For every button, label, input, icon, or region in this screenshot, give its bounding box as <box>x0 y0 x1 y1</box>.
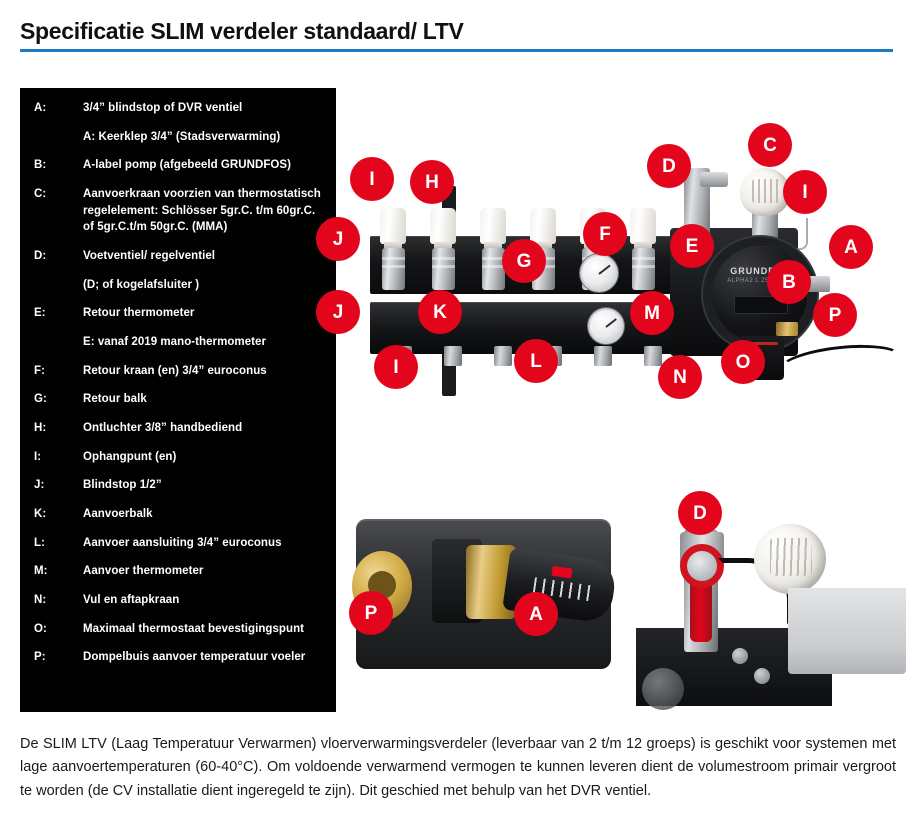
legend-key: H: <box>34 420 83 437</box>
return-thermometer-gauge <box>580 254 618 292</box>
legend-key: J: <box>34 477 83 494</box>
valve-cap <box>630 208 656 244</box>
legend-row: L:Aanvoer aansluiting 3/4” euroconus <box>34 535 326 552</box>
callout-badge-m: M <box>630 291 674 335</box>
callout-badge-l: L <box>514 339 558 383</box>
title-divider <box>20 49 893 52</box>
legend-panel: A:3/4” blindstop of DVR ventielA:A: Keer… <box>20 88 336 712</box>
callout-badge-d: D <box>678 491 722 535</box>
legend-label: Retour kraan (en) 3/4” euroconus <box>83 363 326 380</box>
legend-row: E:E: vanaf 2019 mano-thermometer <box>34 334 326 351</box>
thermostatic-head-icon <box>754 524 826 594</box>
callout-badge-i: I <box>350 157 394 201</box>
legend-label: Retour balk <box>83 391 326 408</box>
inset-photo-foot-valve <box>636 500 906 710</box>
legend-label: Retour thermometer <box>83 305 326 322</box>
legend-key: O: <box>34 621 83 638</box>
legend-label: A: Keerklep 3/4” (Stadsverwarming) <box>83 129 326 146</box>
callout-badge-a: A <box>514 592 558 636</box>
legend-row: B:A-label pomp (afgebeeld GRUNDFOS) <box>34 157 326 174</box>
legend-label: Voetventiel/ regelventiel <box>83 248 326 265</box>
supply-connector <box>444 346 462 366</box>
legend-key: M: <box>34 563 83 580</box>
legend-key: K: <box>34 506 83 523</box>
legend-row: N:Vul en aftapkraan <box>34 592 326 609</box>
supply-connector <box>494 346 512 366</box>
callout-badge-h: H <box>410 160 454 204</box>
callout-badge-c: C <box>748 123 792 167</box>
bolt-icon <box>754 668 770 684</box>
legend-row: C:Aanvoerkraan voorzien van thermostatis… <box>34 186 326 236</box>
page-title: Specificatie SLIM verdeler standaard/ LT… <box>20 18 895 44</box>
callout-badge-j: J <box>316 290 360 334</box>
legend-row: F:Retour kraan (en) 3/4” euroconus <box>34 363 326 380</box>
legend-key: L: <box>34 535 83 552</box>
legend-label: Dompelbuis aanvoer temperatuur voeler <box>83 649 326 666</box>
callout-badge-a: A <box>829 225 873 269</box>
valve-cap <box>480 208 506 244</box>
legend-key: P: <box>34 649 83 666</box>
legend-label: Maximaal thermostaat bevestigingspunt <box>83 621 326 638</box>
callout-badge-b: B <box>767 260 811 304</box>
legend-row: E:Retour thermometer <box>34 305 326 322</box>
legend-label: 3/4” blindstop of DVR ventiel <box>83 100 326 117</box>
callout-badge-k: K <box>418 290 462 334</box>
legend-label: Aanvoerkraan voorzien van thermostatisch… <box>83 186 326 236</box>
legend-row: G:Retour balk <box>34 391 326 408</box>
legend-label: Aanvoer thermometer <box>83 563 326 580</box>
legend-row: I:Ophangpunt (en) <box>34 449 326 466</box>
callout-badge-n: N <box>658 355 702 399</box>
legend-key: I: <box>34 449 83 466</box>
legend-row: A:A: Keerklep 3/4” (Stadsverwarming) <box>34 129 326 146</box>
callout-badge-i: I <box>783 170 827 214</box>
description-paragraph: De SLIM LTV (Laag Temperatuur Verwarmen)… <box>20 733 896 803</box>
red-index-marker-icon <box>551 566 572 579</box>
legend-label: Ontluchter 3/8” handbediend <box>83 420 326 437</box>
metal-cover-panel <box>788 588 906 674</box>
legend-label: Aanvoerbalk <box>83 506 326 523</box>
legend-row: D:Voetventiel/ regelventiel <box>34 248 326 265</box>
legend-label: Ophangpunt (en) <box>83 449 326 466</box>
legend-key: E: <box>34 305 83 322</box>
legend-label: Aanvoer aansluiting 3/4” euroconus <box>83 535 326 552</box>
legend-row: O:Maximaal thermostaat bevestigingspunt <box>34 621 326 638</box>
supply-connector <box>594 346 612 366</box>
legend-key: A: <box>34 100 83 117</box>
legend-row: P:Dompelbuis aanvoer temperatuur voeler <box>34 649 326 666</box>
hanging-point-icon <box>796 218 808 250</box>
supply-thermometer-gauge <box>588 308 624 344</box>
background-gauge <box>642 668 684 710</box>
legend-label: Vul en aftapkraan <box>83 592 326 609</box>
valve-cap <box>530 208 556 244</box>
legend-key: F: <box>34 363 83 380</box>
callout-badge-g: G <box>502 239 546 283</box>
callout-badge-e: E <box>670 224 714 268</box>
valve-cap <box>430 208 456 244</box>
foot-valve-arm <box>700 172 728 187</box>
callout-badge-i: I <box>374 345 418 389</box>
callout-badge-o: O <box>721 340 765 384</box>
callout-badge-j: J <box>316 217 360 261</box>
legend-row: M:Aanvoer thermometer <box>34 563 326 580</box>
euroconus-fitting <box>382 248 405 290</box>
callout-badge-f: F <box>583 212 627 256</box>
bolt-icon <box>732 648 748 664</box>
euroconus-fitting <box>632 248 655 290</box>
callout-badge-d: D <box>647 144 691 188</box>
legend-row: D:(D; of kogelafsluiter ) <box>34 277 326 294</box>
callout-badge-p: P <box>349 591 393 635</box>
euroconus-fitting <box>432 248 455 290</box>
legend-key: G: <box>34 391 83 408</box>
page-header: Specificatie SLIM verdeler standaard/ LT… <box>20 18 895 52</box>
euroconus-fitting <box>482 248 505 290</box>
legend-row: J:Blindstop 1/2” <box>34 477 326 494</box>
legend-label: Blindstop 1/2” <box>83 477 326 494</box>
callout-badge-p: P <box>813 293 857 337</box>
legend-row: A:3/4” blindstop of DVR ventiel <box>34 100 326 117</box>
legend-row: H:Ontluchter 3/8” handbediend <box>34 420 326 437</box>
legend-label: E: vanaf 2019 mano-thermometer <box>83 334 326 351</box>
legend-key: B: <box>34 157 83 174</box>
legend-row: K:Aanvoerbalk <box>34 506 326 523</box>
legend-key: D: <box>34 248 83 265</box>
sensor-pocket-fitting <box>776 322 798 336</box>
legend-key: N: <box>34 592 83 609</box>
legend-key: C: <box>34 186 83 203</box>
valve-cap <box>380 208 406 244</box>
legend-label: (D; of kogelafsluiter ) <box>83 277 326 294</box>
legend-label: A-label pomp (afgebeeld GRUNDFOS) <box>83 157 326 174</box>
